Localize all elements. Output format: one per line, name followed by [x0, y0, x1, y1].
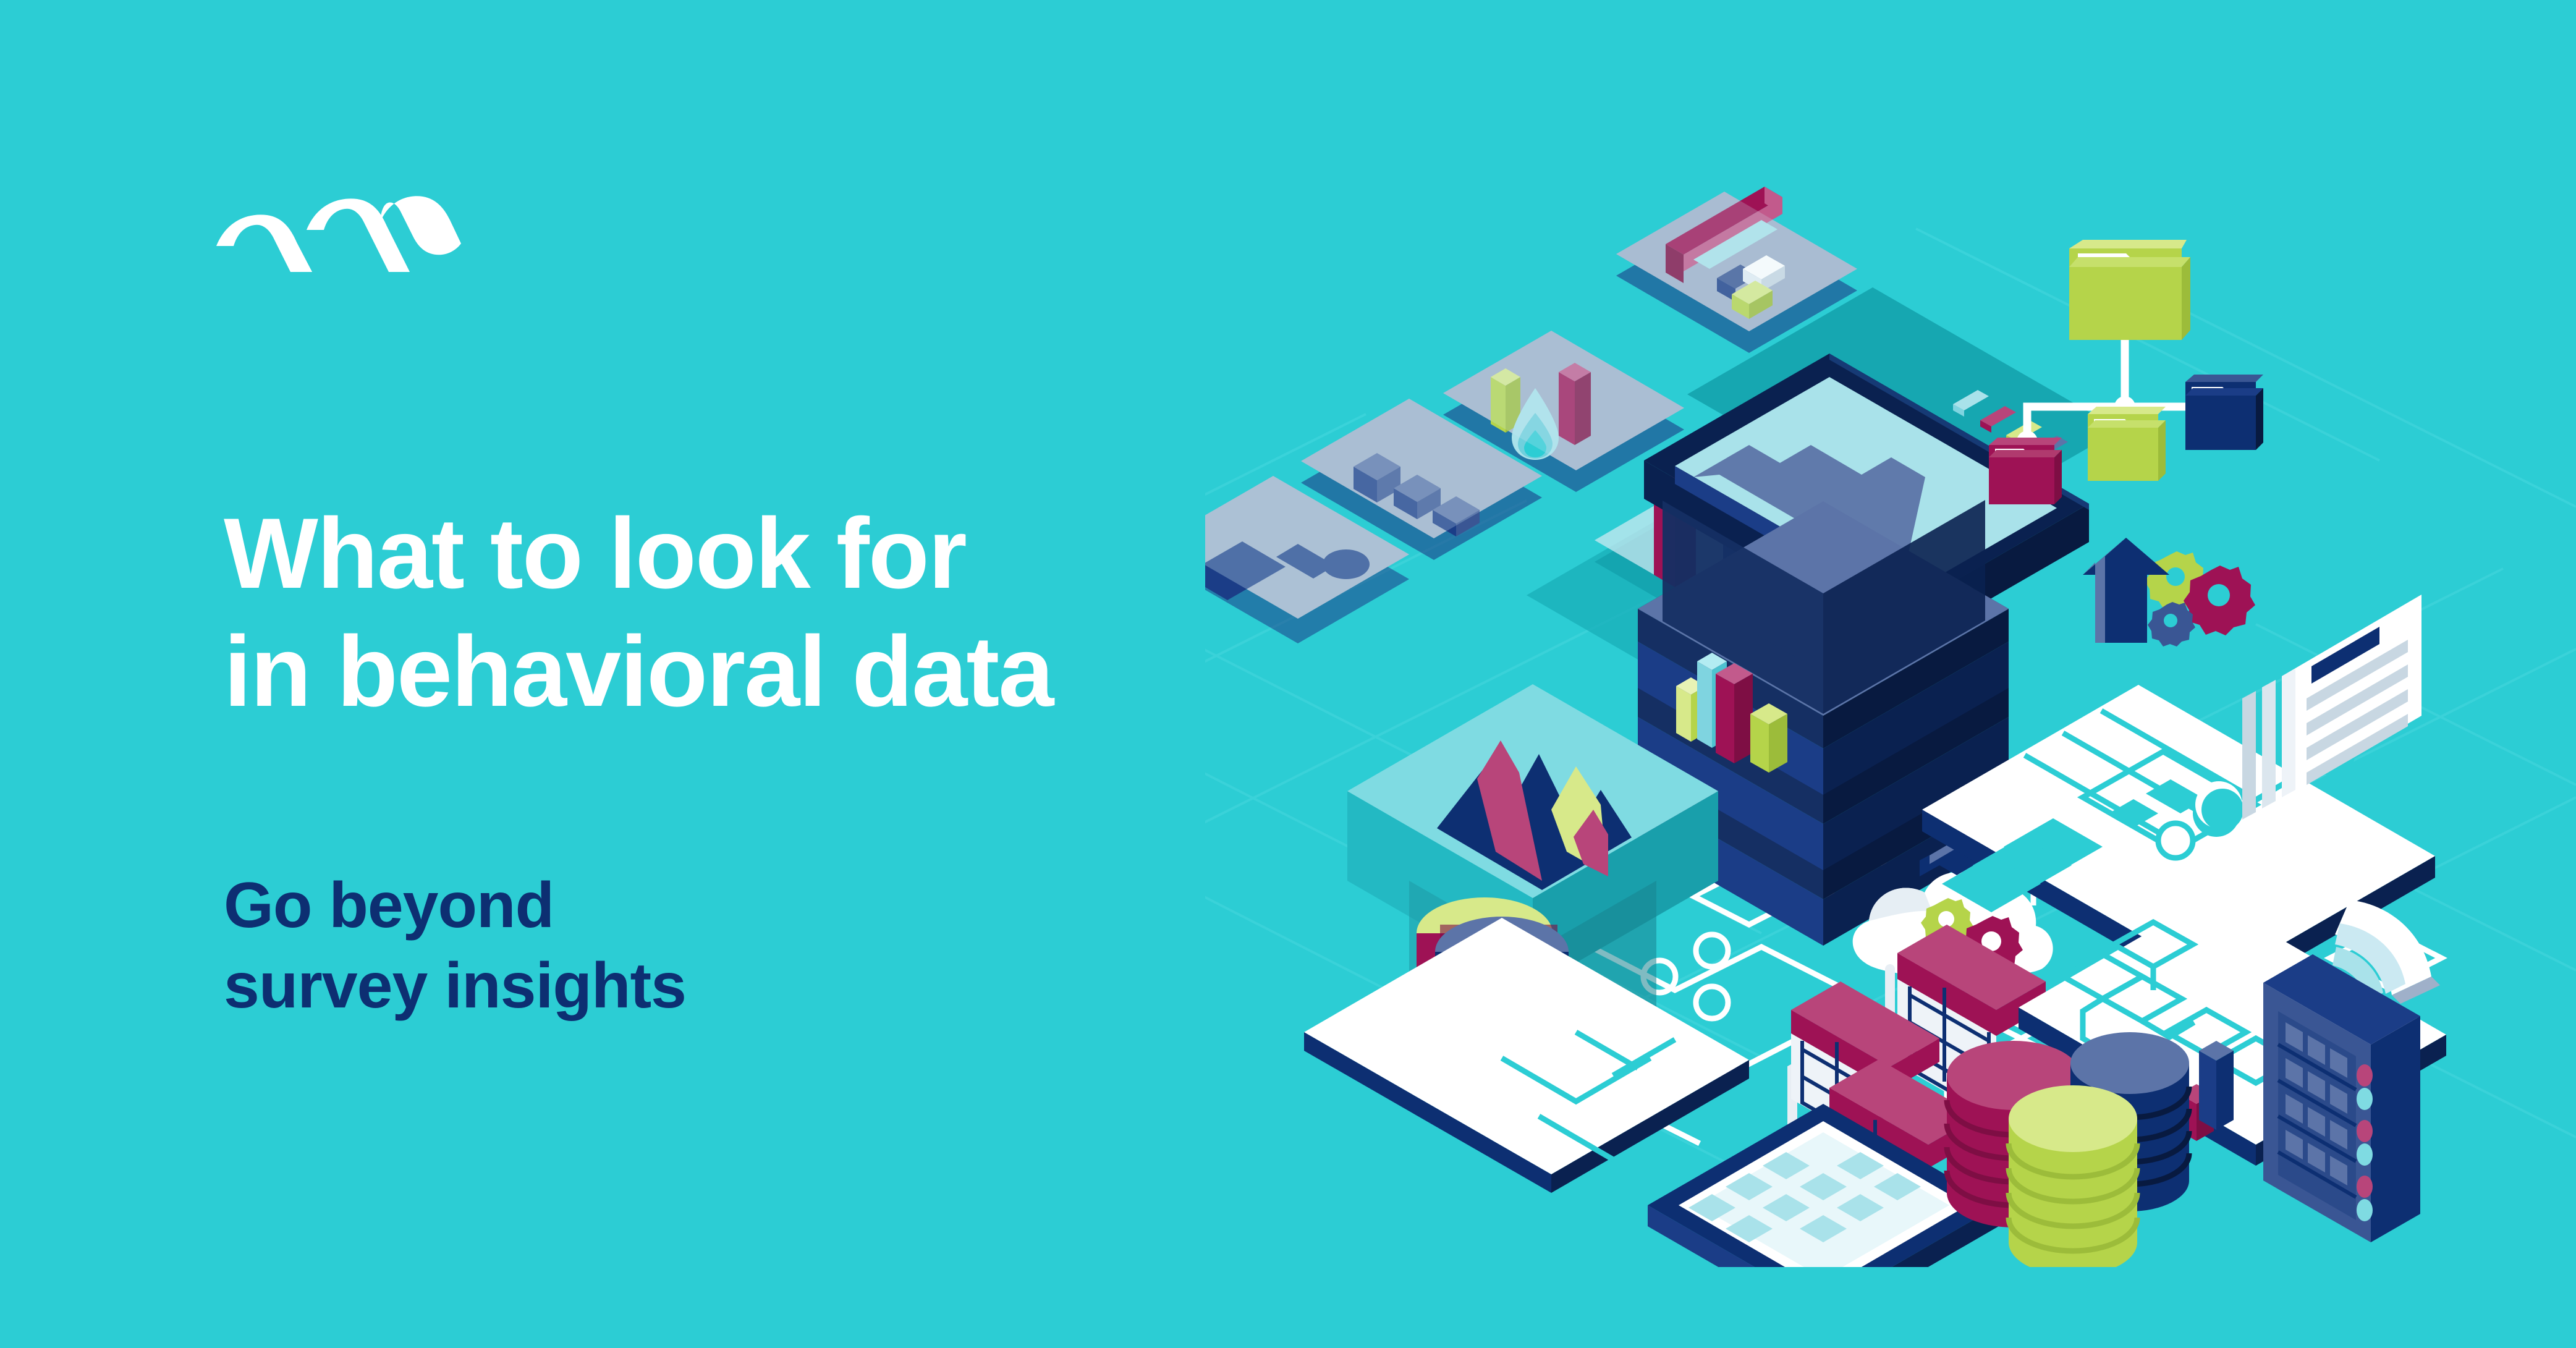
flowchart-sheet-left [1304, 918, 1749, 1193]
folder-icon-lime-child [2088, 407, 2166, 481]
coin-stack-lime [2009, 1085, 2137, 1267]
page-subtitle: Go beyond survey insights [224, 865, 1089, 1026]
isometric-data-platform-illustration [1205, 155, 2576, 1267]
gears-cluster-right [2083, 538, 2255, 646]
stacked-documents [2242, 595, 2421, 820]
hero-banner: What to look for in behavioral data Go b… [0, 0, 2576, 1348]
folder-tree [1989, 240, 2263, 504]
folder-icon-navy [2185, 375, 2263, 450]
walr-wave-logo[interactable] [215, 192, 462, 272]
folder-icon-lime [2069, 240, 2190, 340]
folder-icon-magenta [1989, 438, 2062, 504]
logo-wave-shapes [216, 196, 461, 272]
